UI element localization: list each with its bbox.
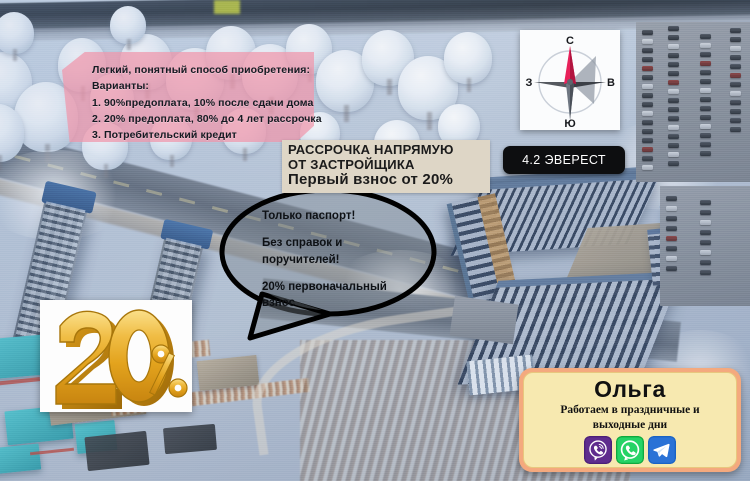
banner-line-2: Варианты: bbox=[92, 78, 322, 94]
compass-icon: С В Ю З bbox=[520, 30, 620, 130]
installment-heading: РАССРОЧКА НАПРЯМУЮ ОТ ЗАСТРОЙЩИКА bbox=[288, 142, 454, 173]
speech-bubble-text: Только паспорт! Без справок и поручителе… bbox=[262, 208, 438, 312]
gold-20-percent-graphic bbox=[40, 300, 192, 412]
promo-screenshot: Легкий, понятный способ приобретения: Ва… bbox=[0, 0, 750, 481]
compass-west-label: З bbox=[526, 77, 533, 89]
messenger-row bbox=[584, 436, 676, 464]
discount-badge-card bbox=[40, 300, 192, 412]
viber-icon[interactable] bbox=[584, 436, 612, 464]
speech-bubble: Только паспорт! Без справок и поручителе… bbox=[210, 186, 440, 346]
compass-south-label: Ю bbox=[564, 118, 575, 130]
bubble-line-1: Только паспорт! bbox=[262, 208, 438, 224]
agent-name: Ольга bbox=[594, 377, 666, 401]
banner-line-3: 1. 90%предоплата, 10% после сдачи дома bbox=[92, 95, 322, 111]
installment-heading-line-1: РАССРОЧКА НАПРЯМУЮ bbox=[288, 142, 454, 157]
banner-line-1: Легкий, понятный способ приобретения: bbox=[92, 62, 322, 78]
installment-downpayment: Первый взнос от 20% bbox=[288, 171, 453, 188]
project-name-badge: 4.2 ЭВЕРЕСТ bbox=[503, 146, 625, 174]
bubble-line-2: Без справок и bbox=[262, 235, 438, 251]
banner-line-4: 2. 20% предоплата, 80% до 4 лет рассрочк… bbox=[92, 111, 322, 127]
bubble-line-5: взнос bbox=[262, 295, 438, 311]
compass-east-label: В bbox=[607, 77, 615, 89]
telegram-icon[interactable] bbox=[648, 436, 676, 464]
bubble-line-3: поручителей! bbox=[262, 252, 438, 268]
compass-north-label: С bbox=[566, 35, 574, 47]
contact-card[interactable]: Ольга Работаем в праздничные и выходные … bbox=[519, 368, 741, 472]
working-hours-line-1: Работаем в праздничные и bbox=[560, 403, 699, 418]
contact-card-inner: Ольга Работаем в праздничные и выходные … bbox=[523, 372, 737, 468]
compass-card: С В Ю З bbox=[520, 30, 620, 130]
offer-banner-text: Легкий, понятный способ приобретения: Ва… bbox=[92, 62, 322, 143]
bubble-line-4: 20% первоначальный bbox=[262, 279, 438, 295]
working-hours-line-2: выходные дни bbox=[560, 418, 699, 433]
working-hours-note: Работаем в праздничные и выходные дни bbox=[560, 403, 699, 433]
installment-callout: РАССРОЧКА НАПРЯМУЮ ОТ ЗАСТРОЙЩИКА Первый… bbox=[282, 140, 490, 193]
project-name-label: 4.2 ЭВЕРЕСТ bbox=[522, 153, 606, 167]
whatsapp-icon[interactable] bbox=[616, 436, 644, 464]
